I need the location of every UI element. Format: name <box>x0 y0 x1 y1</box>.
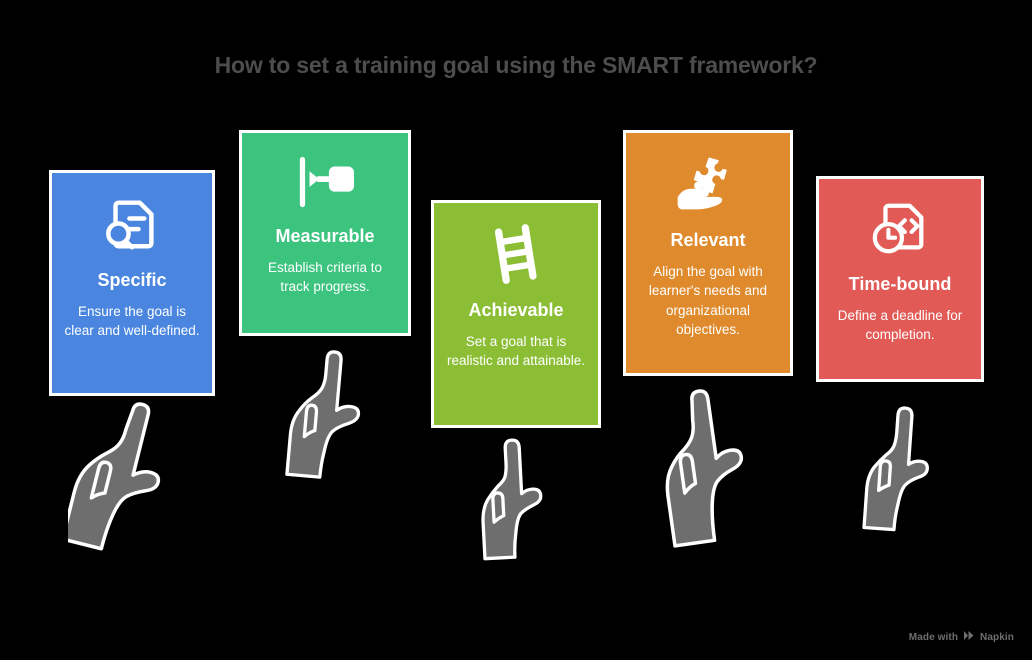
card-title: Relevant <box>670 230 745 251</box>
card-description: Align the goal with learner's needs and … <box>636 262 780 340</box>
clock-code-document-icon <box>869 199 931 264</box>
pointing-hand-icon <box>68 398 186 573</box>
card-title: Achievable <box>468 300 563 321</box>
infographic-canvas: How to set a training goal using the SMA… <box>0 0 1032 660</box>
page-title: How to set a training goal using the SMA… <box>0 52 1032 79</box>
card-title: Time-bound <box>849 274 952 295</box>
card-description: Set a goal that is realistic and attaina… <box>444 332 588 371</box>
measure-arrow-icon <box>290 153 360 216</box>
watermark-brand: Napkin <box>980 632 1014 643</box>
card-title: Measurable <box>275 226 374 247</box>
pointing-hand-icon <box>282 348 382 493</box>
card-timebound[interactable]: Time-bound Define a deadline for complet… <box>816 176 984 382</box>
card-title: Specific <box>97 270 166 291</box>
pointing-hand-icon <box>860 404 944 545</box>
document-search-icon <box>101 193 163 260</box>
card-measurable[interactable]: Measurable Establish criteria to track p… <box>239 130 411 336</box>
hand-puzzle-icon <box>672 153 744 220</box>
card-description: Define a deadline for completion. <box>829 306 971 345</box>
watermark: Made with Napkin <box>909 630 1014 644</box>
card-specific[interactable]: Specific Ensure the goal is clear and we… <box>49 170 215 396</box>
card-description: Ensure the goal is clear and well-define… <box>62 302 202 341</box>
pointing-hand-icon <box>650 386 760 563</box>
pointing-hand-icon <box>470 436 562 571</box>
card-achievable[interactable]: Achievable Set a goal that is realistic … <box>431 200 601 428</box>
ladder-icon <box>487 223 545 290</box>
card-relevant[interactable]: Relevant Align the goal with learner's n… <box>623 130 793 376</box>
card-description: Establish criteria to track progress. <box>252 258 398 297</box>
watermark-prefix: Made with <box>909 632 958 643</box>
napkin-logo-icon <box>963 630 975 644</box>
